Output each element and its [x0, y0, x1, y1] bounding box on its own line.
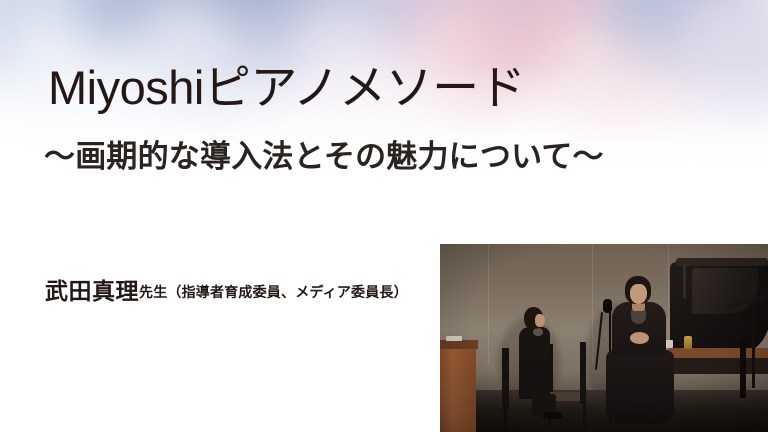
presenter-line: 武田真理先生（指導者育成委員、メディア委員長） — [45, 272, 408, 306]
presentation-slide: Miyoshiピアノメソード 〜画期的な導入法とその魅力について〜 武田真理先生… — [0, 0, 768, 432]
slide-title: Miyoshiピアノメソード — [48, 63, 525, 112]
presenter-name: 武田真理 — [45, 278, 139, 304]
photo-vignette — [440, 244, 768, 432]
presenter-role: 先生（指導者育成委員、メディア委員長） — [139, 284, 408, 300]
stage-photo — [440, 244, 768, 432]
slide-subtitle: 〜画期的な導入法とその魅力について〜 — [44, 140, 604, 174]
